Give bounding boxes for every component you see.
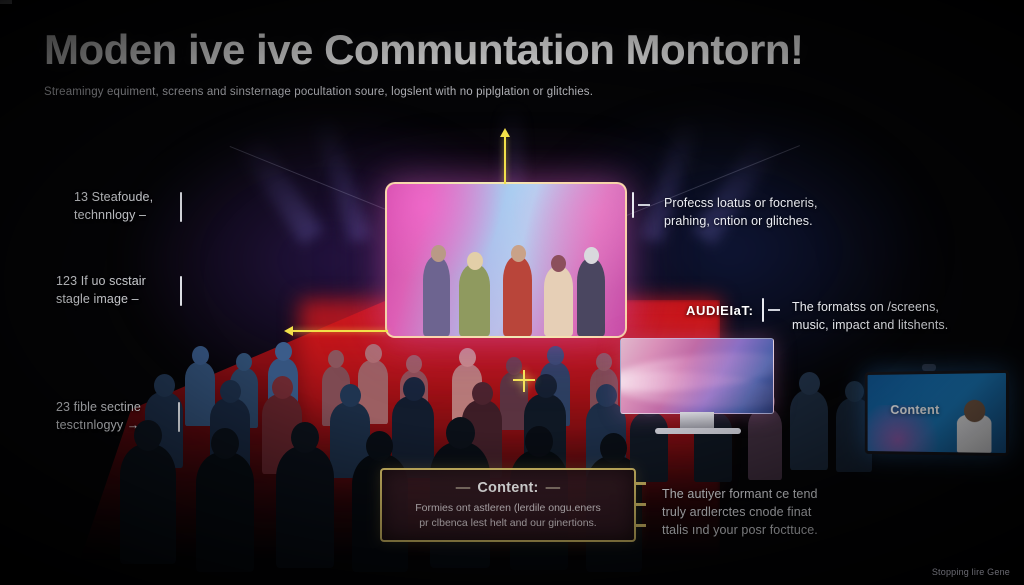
footer-caption: Stopping lire Gene <box>932 567 1010 577</box>
vignette-overlay <box>0 0 1024 585</box>
presentation-stage-illustration: Content Moden ive ive Communtation Monto… <box>0 0 1024 585</box>
